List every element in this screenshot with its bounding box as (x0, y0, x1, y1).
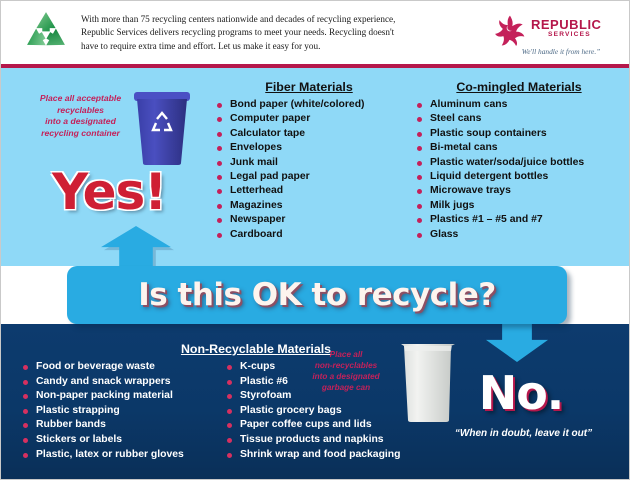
list-item: Magazines (213, 199, 405, 213)
list-item: Letterhead (213, 184, 405, 198)
list-item: Milk jugs (413, 199, 625, 213)
non-recyclable-panel: Non-Recyclable Materials Food or beverag… (1, 324, 630, 480)
blue-recycling-bin-icon (131, 89, 193, 166)
non-recyclable-column-1: Food or beverage waste Candy and snack w… (19, 360, 234, 462)
list-item: Candy and snack wrappers (19, 375, 234, 390)
caption-line: Place all acceptable (23, 93, 138, 105)
list-item: Rubber bands (19, 418, 234, 433)
comingled-materials-column: Co-mingled Materials Aluminum cans Steel… (413, 80, 625, 242)
fiber-materials-list: Bond paper (white/colored) Computer pape… (213, 98, 405, 242)
list-item: Plastic, latex or rubber gloves (19, 448, 234, 463)
recycling-symbol-icon (18, 10, 74, 58)
header-paragraph-line: have to require extra time and effort. L… (81, 40, 471, 53)
recyclable-caption: Place all acceptable recyclables into a … (23, 93, 138, 139)
comingled-materials-title: Co-mingled Materials (413, 80, 625, 94)
caption-line: garbage can (291, 382, 401, 393)
brand-name: REPUBLIC (531, 17, 601, 32)
non-recyclable-caption: Place all non-recyclables into a designa… (291, 349, 401, 393)
list-item: Junk mail (213, 156, 405, 170)
caption-line: into a designated (23, 116, 138, 128)
question-banner: Is this OK to recycle? (67, 266, 567, 324)
caption-line: recyclables (23, 105, 138, 117)
comingled-materials-list: Aluminum cans Steel cans Plastic soup co… (413, 98, 625, 242)
recyclable-panel: Place all acceptable recyclables into a … (1, 68, 630, 266)
fiber-materials-column: Fiber Materials Bond paper (white/colore… (213, 80, 405, 242)
list-item: Aluminum cans (413, 98, 625, 112)
republic-star-icon (493, 14, 527, 46)
caption-line: Place all (291, 349, 401, 360)
caption-line: recycling container (23, 128, 138, 140)
recycling-infographic: With more than 75 recycling centers nati… (0, 0, 630, 480)
list-item: Calculator tape (213, 127, 405, 141)
question-banner-text: Is this OK to recycle? (138, 277, 496, 313)
caption-line: non-recyclables (291, 360, 401, 371)
list-item: Plastic soup containers (413, 127, 625, 141)
list-item: Tissue products and napkins (223, 433, 438, 448)
list-item: Food or beverage waste (19, 360, 234, 375)
list-item: Plastic water/soda/juice bottles (413, 156, 625, 170)
list-item: Envelopes (213, 141, 405, 155)
list-item: Shrink wrap and food packaging (223, 448, 438, 463)
list-item: Computer paper (213, 112, 405, 126)
list-item: Newspaper (213, 213, 405, 227)
header-paragraph-line: With more than 75 recycling centers nati… (81, 13, 471, 26)
list-item: Plastics #1 – #5 and #7 (413, 213, 625, 227)
header-bar: With more than 75 recycling centers nati… (1, 1, 630, 64)
non-recyclable-list-1: Food or beverage waste Candy and snack w… (19, 360, 234, 462)
list-item: Microwave trays (413, 184, 625, 198)
list-item: Cardboard (213, 228, 405, 242)
list-item: Legal pad paper (213, 170, 405, 184)
list-item: Bond paper (white/colored) (213, 98, 405, 112)
header-paragraph-line: Republic Services delivers recycling pro… (81, 26, 471, 39)
list-item: Plastic strapping (19, 404, 234, 419)
list-item: Liquid detergent bottles (413, 170, 625, 184)
list-item: Glass (413, 228, 625, 242)
list-item: Stickers or labels (19, 433, 234, 448)
fiber-materials-title: Fiber Materials (213, 80, 405, 94)
header-paragraph: With more than 75 recycling centers nati… (81, 13, 471, 53)
no-verdict: No. (441, 366, 601, 420)
list-item: Bi-metal cans (413, 141, 625, 155)
yes-verdict: Yes! (19, 163, 199, 221)
brand-tagline: We'll handle it from here.” (499, 47, 623, 56)
list-item: Non-paper packing material (19, 389, 234, 404)
republic-services-logo: REPUBLIC SERVICES We'll handle it from h… (491, 12, 623, 60)
caption-line: into a designated (291, 371, 401, 382)
list-item: Steel cans (413, 112, 625, 126)
brand-subname: SERVICES (548, 31, 591, 38)
no-quote: “When in doubt, leave it out” (426, 428, 621, 439)
